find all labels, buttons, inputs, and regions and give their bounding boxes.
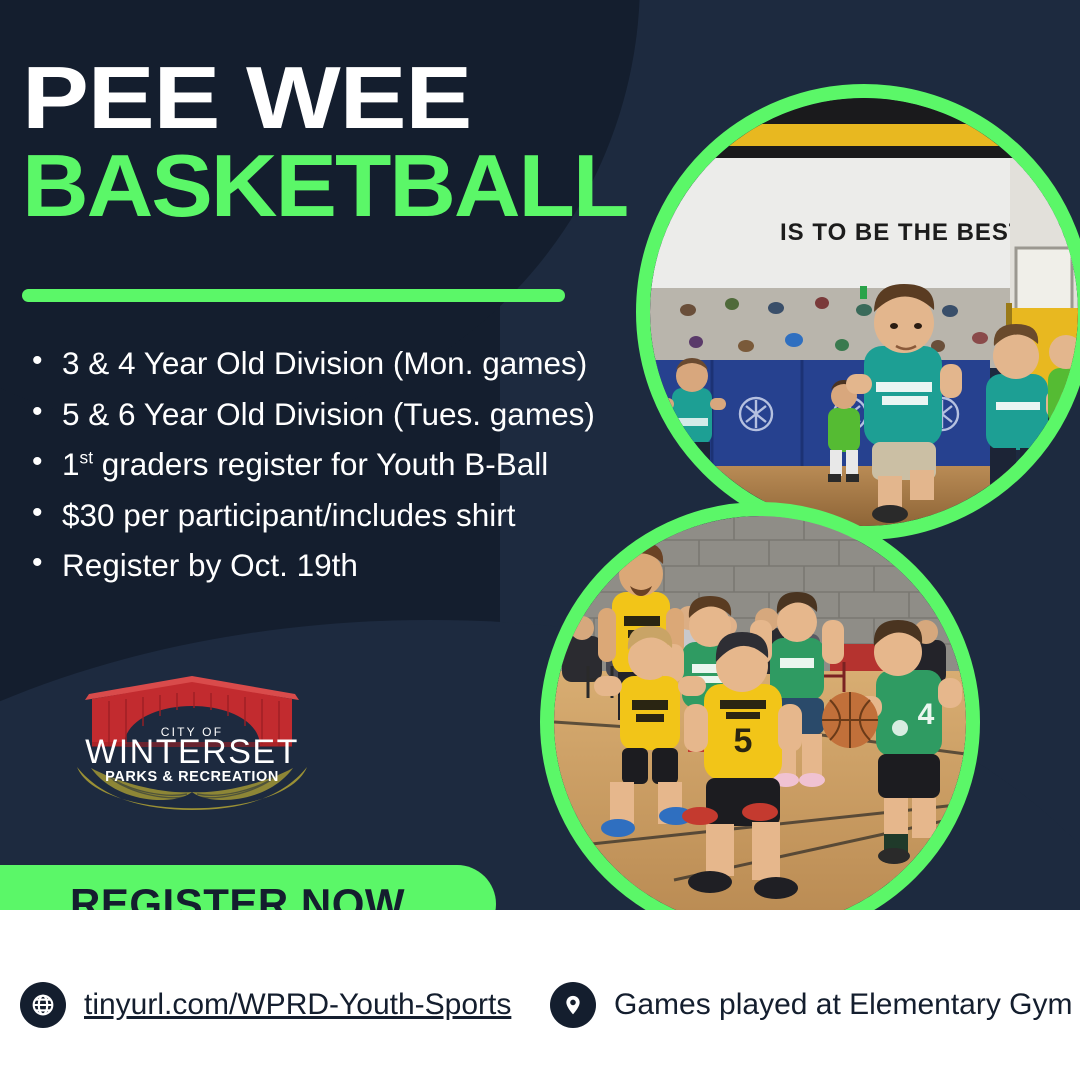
logo-artwork: CITY OF WINTERSET PARKS & RECREATION	[47, 664, 337, 824]
bullet-text-tail: graders register for Youth B-Ball	[93, 446, 548, 482]
flyer-poster: PEE WEE BASKETBALL 3 & 4 Year Old Divisi…	[0, 0, 1080, 1080]
bullet-text: 5 & 6 Year Old Division (Tues. games)	[62, 396, 595, 432]
globe-icon	[20, 982, 66, 1028]
bullet-text: Register by Oct. 19th	[62, 547, 358, 583]
bullet-text: $30 per participant/includes shirt	[62, 497, 516, 533]
footer-location-item: Games played at Elementary Gym	[550, 982, 1073, 1028]
bullet-item: 5 & 6 Year Old Division (Tues. games)	[24, 399, 664, 431]
details-bullet-list: 3 & 4 Year Old Division (Mon. games) 5 &…	[24, 348, 664, 601]
location-text: Games played at Elementary Gym	[614, 988, 1073, 1022]
photo-top-inner: IS TO BE THE BEST YOU"	[650, 98, 1078, 526]
winterset-parks-recreation-logo: CITY OF WINTERSET PARKS & RECREATION	[47, 664, 337, 824]
photo-bottom-inner: 5 4	[554, 516, 966, 928]
bullet-text: 1	[62, 446, 80, 482]
green-jersey-number: 4	[918, 698, 935, 731]
photo-circle-bottom: 5 4	[540, 502, 980, 942]
website-url-text[interactable]: tinyurl.com/WPRD-Youth-Sports	[84, 988, 511, 1022]
photo-circle-top: IS TO BE THE BEST YOU"	[636, 84, 1080, 540]
bullet-item: $30 per participant/includes shirt	[24, 500, 664, 532]
bullet-item: 3 & 4 Year Old Division (Mon. games)	[24, 348, 664, 380]
title-line-2: BASKETBALL	[22, 143, 673, 229]
bullet-item: Register by Oct. 19th	[24, 550, 664, 582]
bullet-item: 1st graders register for Youth B-Ball	[24, 449, 664, 481]
jersey-number-text: 5	[734, 722, 753, 760]
bullet-text: 3 & 4 Year Old Division (Mon. games)	[62, 345, 587, 381]
basketball-game-photo: 5 4	[554, 516, 966, 928]
location-pin-icon	[550, 982, 596, 1028]
gym-running-photo: IS TO BE THE BEST YOU"	[650, 98, 1078, 526]
bullet-ordinal-suffix: st	[80, 448, 93, 468]
logo-department-text: PARKS & RECREATION	[105, 769, 279, 785]
title-underline-rule	[22, 289, 565, 302]
footer-website-item[interactable]: tinyurl.com/WPRD-Youth-Sports	[20, 982, 511, 1028]
headline-block: PEE WEE BASKETBALL	[22, 58, 642, 229]
title-line-1: PEE WEE	[22, 58, 729, 139]
logo-winterset-text: WINTERSET	[85, 733, 299, 771]
